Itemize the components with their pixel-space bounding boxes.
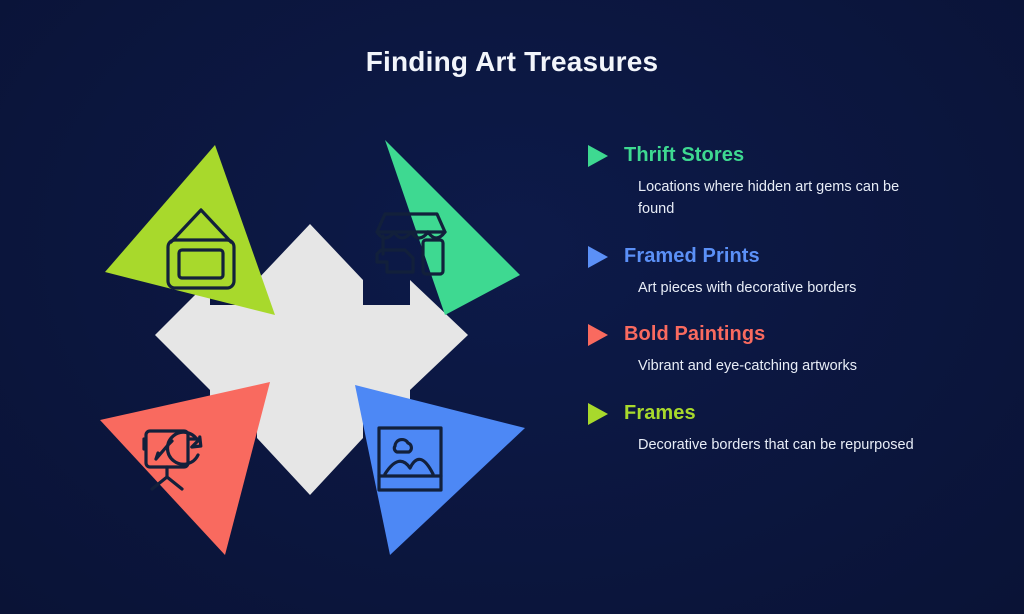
list-item-description: Art pieces with decorative borders xyxy=(638,278,938,300)
list-item-header: Framed Prints xyxy=(586,241,986,271)
list-item-description: Vibrant and eye-catching artworks xyxy=(638,356,938,378)
infographic-slide: Finding Art Treasures xyxy=(0,0,1024,614)
list-item[interactable]: Thrift Stores Locations where hidden art… xyxy=(586,140,986,221)
wedge-top-left xyxy=(105,145,275,315)
wedge-top-right-shape xyxy=(385,140,520,315)
feature-list: Thrift Stores Locations where hidden art… xyxy=(586,140,986,477)
triangle-right-icon xyxy=(586,244,610,270)
list-item-title: Framed Prints xyxy=(624,245,760,267)
triangle-right-icon xyxy=(586,401,610,427)
wedge-bottom-right xyxy=(355,385,525,555)
list-item-title: Bold Paintings xyxy=(624,323,765,345)
wedge-top-right xyxy=(377,140,520,315)
page-title: Finding Art Treasures xyxy=(0,46,1024,78)
list-item-header: Thrift Stores xyxy=(586,140,986,170)
list-item-title: Frames xyxy=(624,402,696,424)
list-item-description: Decorative borders that can be repurpose… xyxy=(638,435,938,457)
list-item[interactable]: Bold Paintings Vibrant and eye-catching … xyxy=(586,319,986,378)
list-item-header: Frames xyxy=(586,398,986,428)
list-item-title: Thrift Stores xyxy=(624,144,744,166)
list-item-description: Locations where hidden art gems can be f… xyxy=(638,177,938,221)
wedge-bottom-left xyxy=(100,382,270,555)
triangle-right-icon xyxy=(586,322,610,348)
list-item[interactable]: Frames Decorative borders that can be re… xyxy=(586,398,986,457)
triangle-right-icon xyxy=(586,143,610,169)
pinwheel-graphic xyxy=(80,120,550,580)
list-item[interactable]: Framed Prints Art pieces with decorative… xyxy=(586,241,986,300)
list-item-header: Bold Paintings xyxy=(586,319,986,349)
